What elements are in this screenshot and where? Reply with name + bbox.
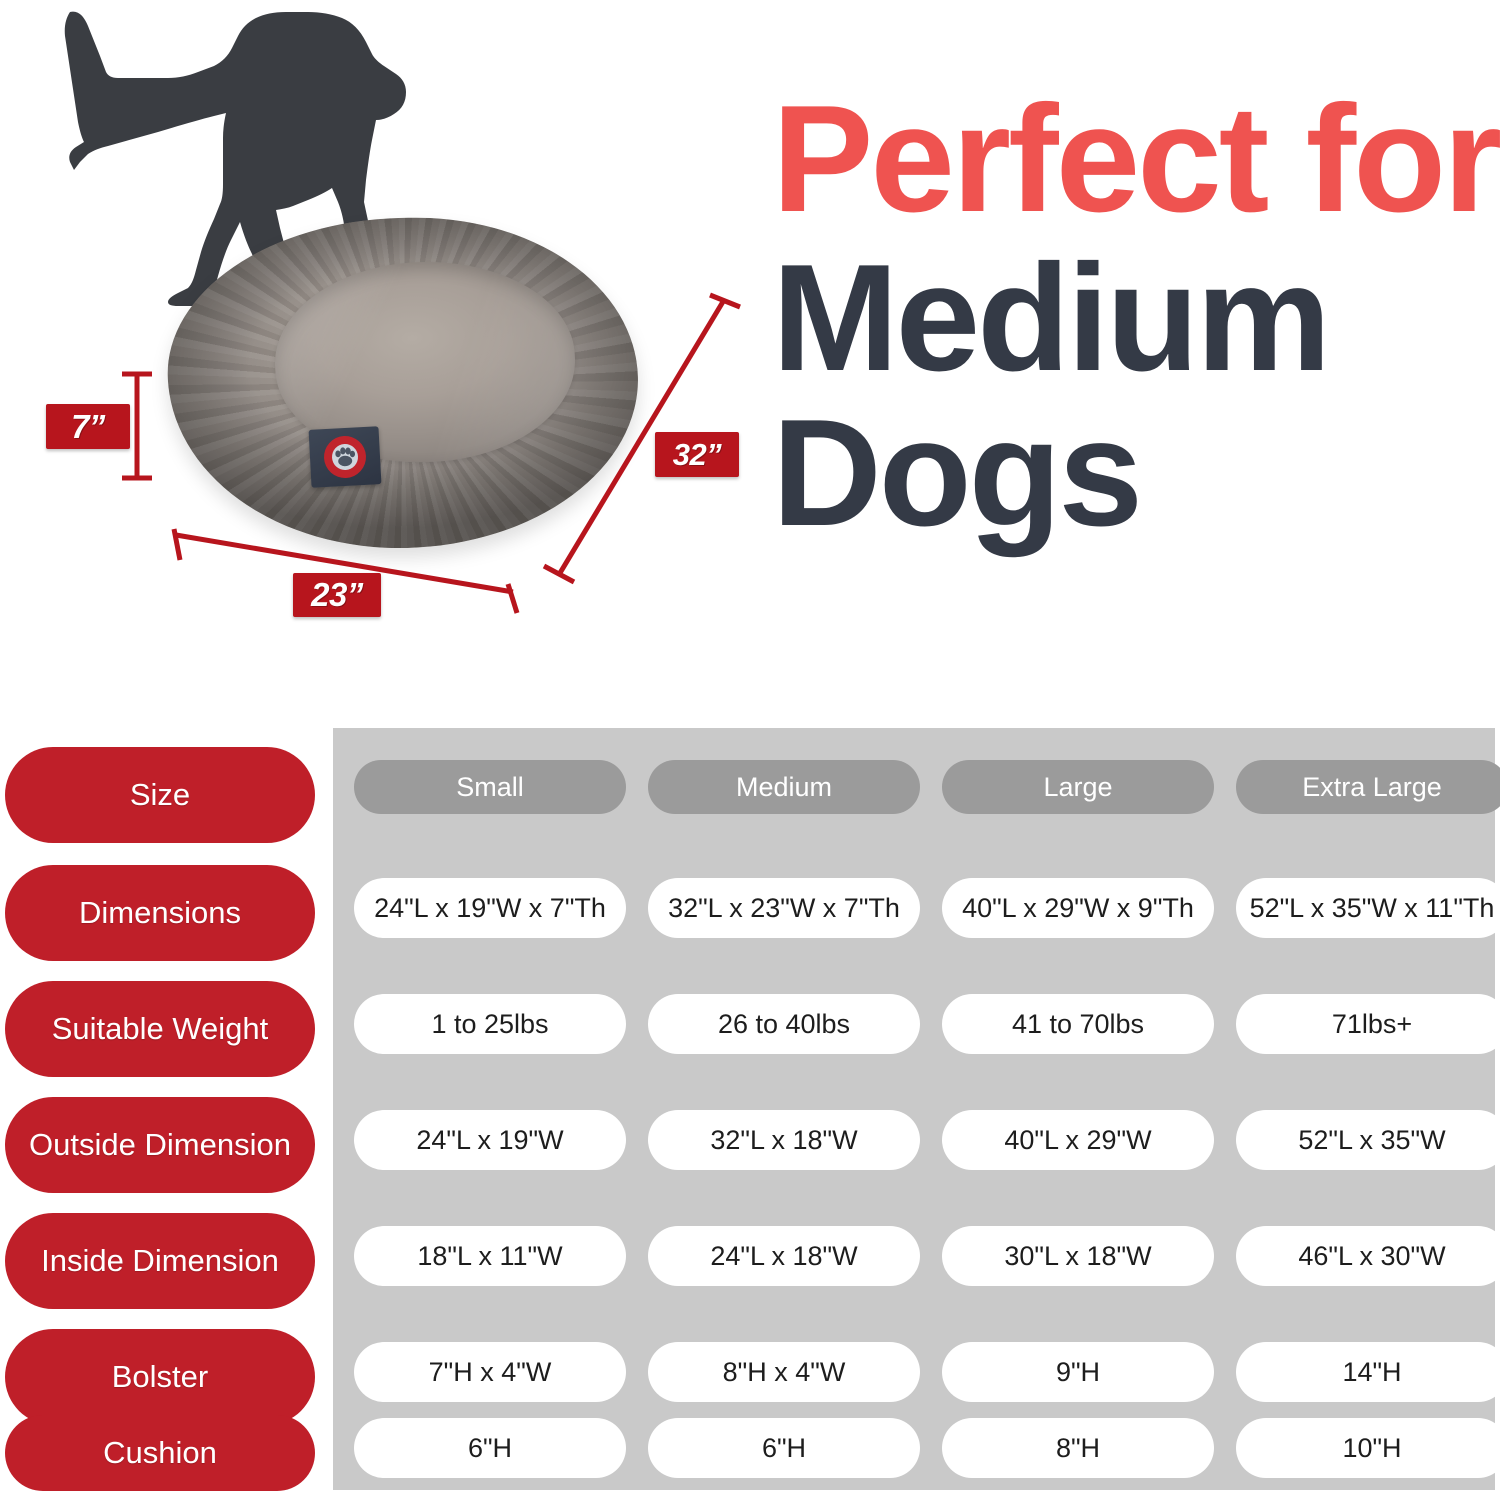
row-label-size: Size — [5, 747, 315, 843]
row-label-inside-dimension: Inside Dimension — [5, 1213, 315, 1309]
headline-line-3: Dogs — [772, 402, 1492, 545]
headline-line-1: Perfect for — [772, 88, 1492, 231]
row-label-bolster: Bolster — [5, 1329, 315, 1425]
headline-line-2: Medium — [772, 247, 1492, 390]
spec-row-label-column: SizeDimensionsSuitable WeightOutside Dim… — [0, 715, 333, 1493]
cell-outside-dimension-medium: 32"L x 18"W — [648, 1110, 920, 1170]
cell-outside-dimension-small: 24"L x 19"W — [354, 1110, 626, 1170]
column-header-large: Large — [942, 760, 1214, 814]
cell-bolster-extra-large: 14"H — [1236, 1342, 1500, 1402]
column-header-medium: Medium — [648, 760, 920, 814]
spec-table-panel: SmallMediumLargeExtra Large24"L x 19"W x… — [333, 728, 1495, 1490]
majestic-pet-logo-icon — [321, 433, 369, 481]
callout-length: 32” — [655, 432, 739, 477]
row-label-dimensions: Dimensions — [5, 865, 315, 961]
callout-thickness: 7” — [46, 404, 130, 449]
cell-suitable-weight-extra-large: 71lbs+ — [1236, 994, 1500, 1054]
column-header-extra-large: Extra Large — [1236, 760, 1500, 814]
cell-bolster-small: 7"H x 4"W — [354, 1342, 626, 1402]
row-label-outside-dimension: Outside Dimension — [5, 1097, 315, 1193]
cell-suitable-weight-medium: 26 to 40lbs — [648, 994, 920, 1054]
cell-outside-dimension-large: 40"L x 29"W — [942, 1110, 1214, 1170]
cell-bolster-large: 9"H — [942, 1342, 1214, 1402]
cell-suitable-weight-large: 41 to 70lbs — [942, 994, 1214, 1054]
cell-inside-dimension-large: 30"L x 18"W — [942, 1226, 1214, 1286]
spec-table: SmallMediumLargeExtra Large24"L x 19"W x… — [0, 715, 1500, 1493]
cell-dimensions-medium: 32"L x 23"W x 7"Th — [648, 878, 920, 938]
cell-dimensions-large: 40"L x 29"W x 9"Th — [942, 878, 1214, 938]
cell-dimensions-extra-large: 52"L x 35"W x 11"Th — [1236, 878, 1500, 938]
cell-cushion-extra-large: 10"H — [1236, 1418, 1500, 1478]
cell-cushion-small: 6"H — [354, 1418, 626, 1478]
cell-cushion-large: 8"H — [942, 1418, 1214, 1478]
cell-inside-dimension-small: 18"L x 11"W — [354, 1226, 626, 1286]
cell-cushion-medium: 6"H — [648, 1418, 920, 1478]
row-label-suitable-weight: Suitable Weight — [5, 981, 315, 1077]
hero-section: 7” 23” 32” Perfect for Medium Dogs — [0, 0, 1500, 715]
cell-inside-dimension-medium: 24"L x 18"W — [648, 1226, 920, 1286]
cell-dimensions-small: 24"L x 19"W x 7"Th — [354, 878, 626, 938]
cell-outside-dimension-extra-large: 52"L x 35"W — [1236, 1110, 1500, 1170]
headline: Perfect for Medium Dogs — [772, 88, 1492, 545]
cell-inside-dimension-extra-large: 46"L x 30"W — [1236, 1226, 1500, 1286]
row-label-cushion: Cushion — [5, 1415, 315, 1491]
brand-tag — [309, 426, 382, 488]
callout-width: 23” — [293, 573, 381, 617]
cell-suitable-weight-small: 1 to 25lbs — [354, 994, 626, 1054]
cell-bolster-medium: 8"H x 4"W — [648, 1342, 920, 1402]
column-header-small: Small — [354, 760, 626, 814]
